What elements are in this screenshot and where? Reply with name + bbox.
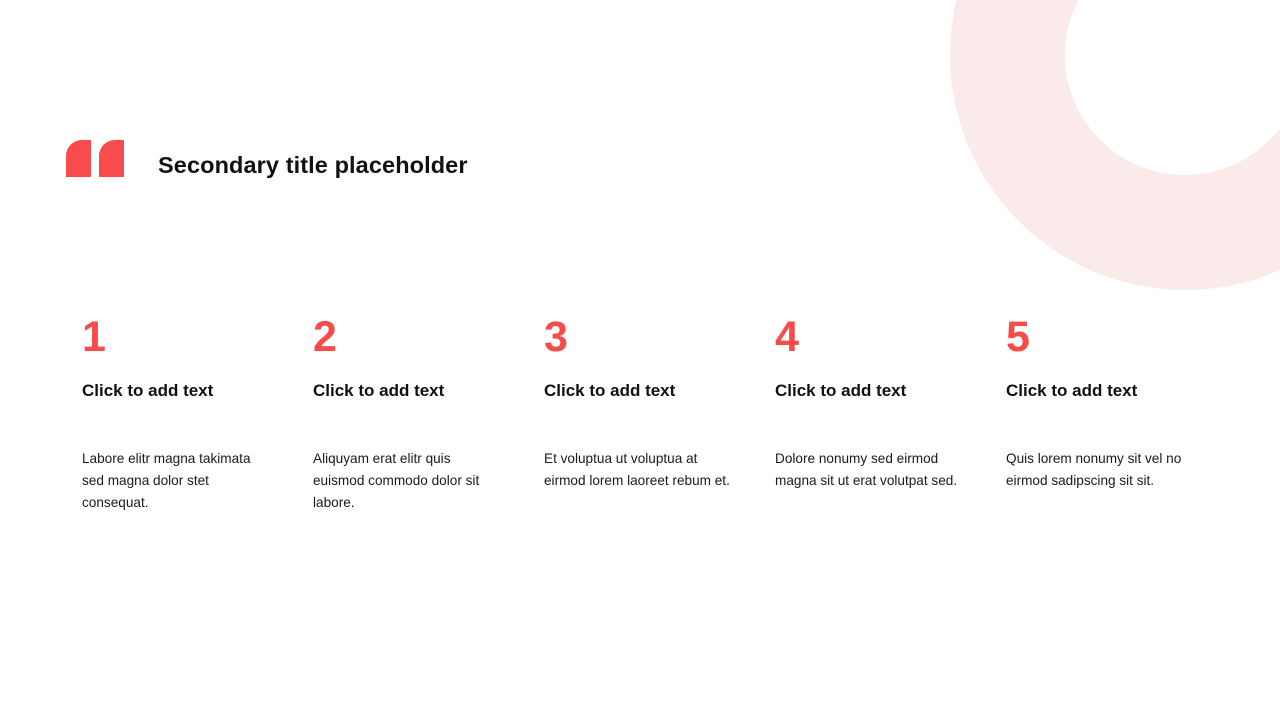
column-number: 5 (1006, 316, 1198, 359)
columns-container: 1 Click to add text Labore elitr magna t… (82, 316, 1242, 514)
column-item: 5 Click to add text Quis lorem nonumy si… (1006, 316, 1237, 514)
column-body-text[interactable]: Et voluptua ut voluptua at eirmod lorem … (544, 448, 736, 492)
column-body-text[interactable]: Aliquyam erat elitr quis euismod commodo… (313, 448, 505, 514)
column-number: 4 (775, 316, 967, 359)
column-body-text[interactable]: Quis lorem nonumy sit vel no eirmod sadi… (1006, 448, 1198, 492)
column-number: 1 (82, 316, 274, 359)
header: Secondary title placeholder (66, 140, 468, 188)
column-item: 4 Click to add text Dolore nonumy sed ei… (775, 316, 1006, 514)
ring-circle-icon (950, 0, 1280, 290)
quotation-mark-icon (66, 140, 124, 188)
column-heading[interactable]: Click to add text (544, 381, 736, 401)
page-title: Secondary title placeholder (158, 151, 468, 178)
column-number: 2 (313, 316, 505, 359)
column-body-text[interactable]: Labore elitr magna takimata sed magna do… (82, 448, 274, 514)
column-heading[interactable]: Click to add text (82, 381, 274, 401)
column-item: 2 Click to add text Aliquyam erat elitr … (313, 316, 544, 514)
column-item: 1 Click to add text Labore elitr magna t… (82, 316, 313, 514)
column-heading[interactable]: Click to add text (1006, 381, 1198, 401)
column-item: 3 Click to add text Et voluptua ut volup… (544, 316, 775, 514)
column-heading[interactable]: Click to add text (313, 381, 505, 401)
column-number: 3 (544, 316, 736, 359)
column-heading[interactable]: Click to add text (775, 381, 967, 401)
column-body-text[interactable]: Dolore nonumy sed eirmod magna sit ut er… (775, 448, 967, 492)
